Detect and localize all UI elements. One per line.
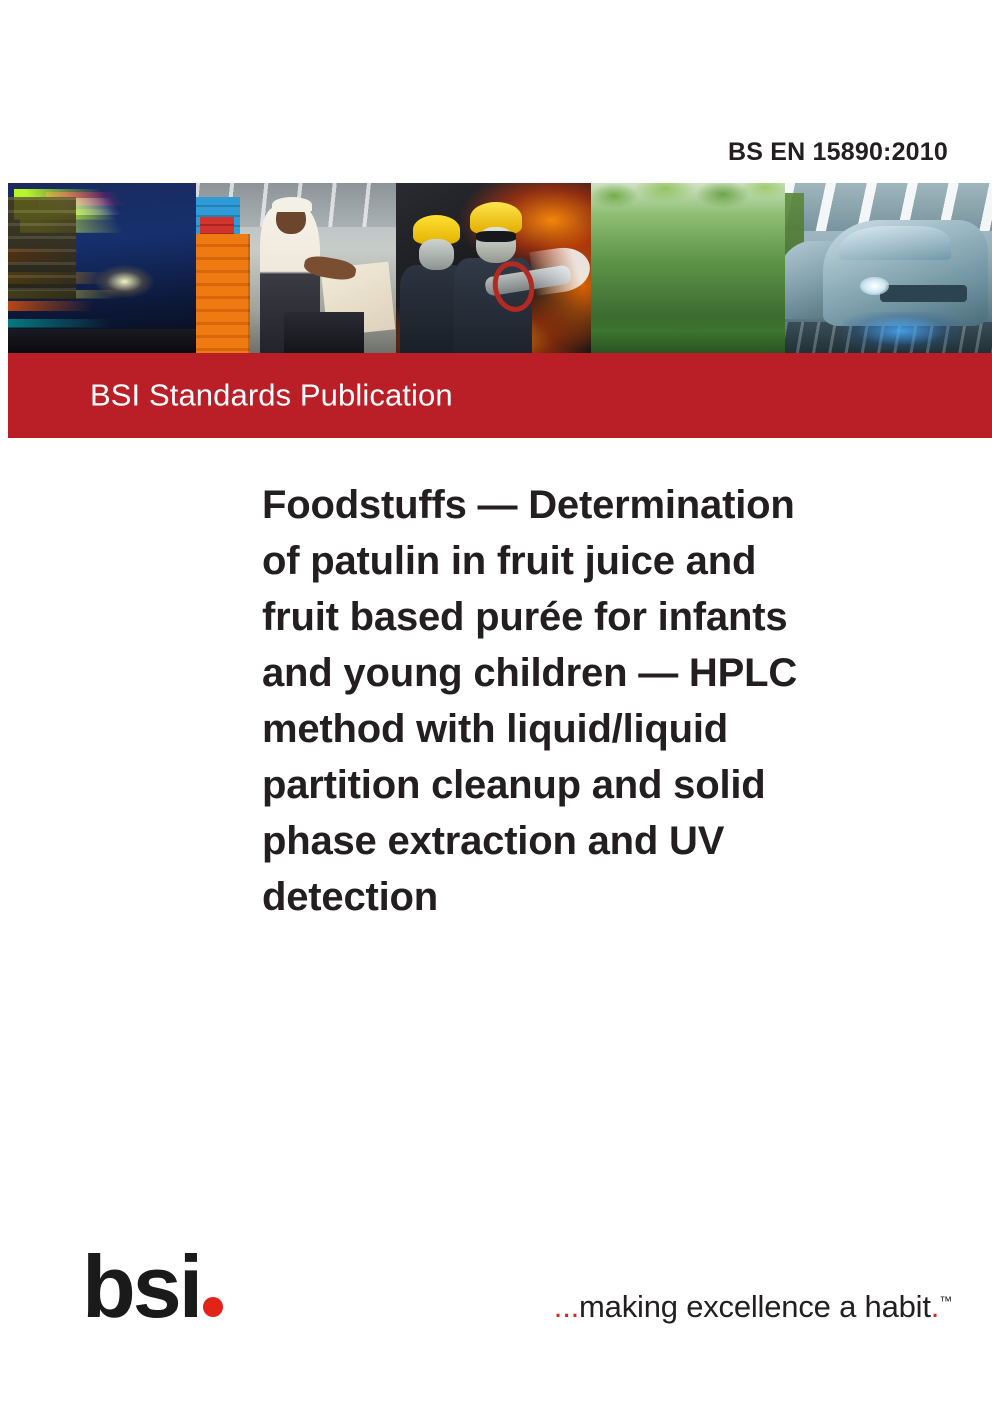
car-underglow bbox=[843, 312, 959, 349]
document-page: BS EN 15890:2010 bbox=[0, 0, 992, 1403]
strip-panel-firefighters bbox=[396, 183, 591, 353]
forest-undergrowth bbox=[591, 316, 786, 353]
tagline-ellipsis: ... bbox=[554, 1289, 579, 1324]
tagline-text: making excellence a habit bbox=[579, 1289, 931, 1324]
cover-image-strip bbox=[8, 183, 992, 353]
strip-panel-night-traffic-light-trails bbox=[8, 183, 196, 353]
banner-label: BSI Standards Publication bbox=[90, 377, 453, 413]
standard-number: BS EN 15890:2010 bbox=[728, 138, 948, 167]
standards-publication-banner: BSI Standards Publication bbox=[8, 353, 992, 438]
title-line-6: partition cleanup and solid bbox=[262, 757, 874, 813]
title-line-5: method with liquid/liquid bbox=[262, 701, 874, 757]
bsi-logo-wordmark: bsi bbox=[82, 1237, 200, 1336]
strip-panel-car-assembly-line bbox=[785, 183, 992, 353]
page-title: Foodstuffs — Determination of patulin in… bbox=[262, 477, 874, 925]
title-line-7: phase extraction and UV bbox=[262, 813, 874, 869]
bsi-tagline: ...making excellence a habit.™ bbox=[554, 1289, 952, 1325]
warehouse-conveyor bbox=[284, 312, 364, 353]
trademark-icon: ™ bbox=[939, 1294, 952, 1309]
title-line-1: Foodstuffs — Determination bbox=[262, 477, 874, 533]
bsi-logo: bsi bbox=[82, 1243, 223, 1331]
title-line-2: of patulin in fruit juice and bbox=[262, 533, 874, 589]
strip-panel-warehouse-worker bbox=[196, 183, 396, 353]
firefighter-front-visor bbox=[476, 231, 517, 243]
title-line-3: fruit based purée for infants bbox=[262, 589, 874, 645]
car-grille bbox=[880, 285, 967, 302]
warehouse-orange-crates bbox=[196, 234, 250, 353]
warehouse-worker-cap bbox=[272, 197, 312, 212]
car-windshield bbox=[839, 226, 951, 260]
title-line-8: detection bbox=[262, 869, 874, 925]
water-spray bbox=[529, 244, 590, 296]
car-headlight bbox=[860, 277, 889, 296]
bsi-logo-red-dot-icon bbox=[203, 1297, 223, 1317]
strip-panel-forest bbox=[591, 183, 786, 353]
firefighter-rear-mask bbox=[419, 239, 454, 270]
tagline-period: . bbox=[931, 1289, 939, 1324]
title-line-4: and young children — HPLC bbox=[262, 645, 874, 701]
